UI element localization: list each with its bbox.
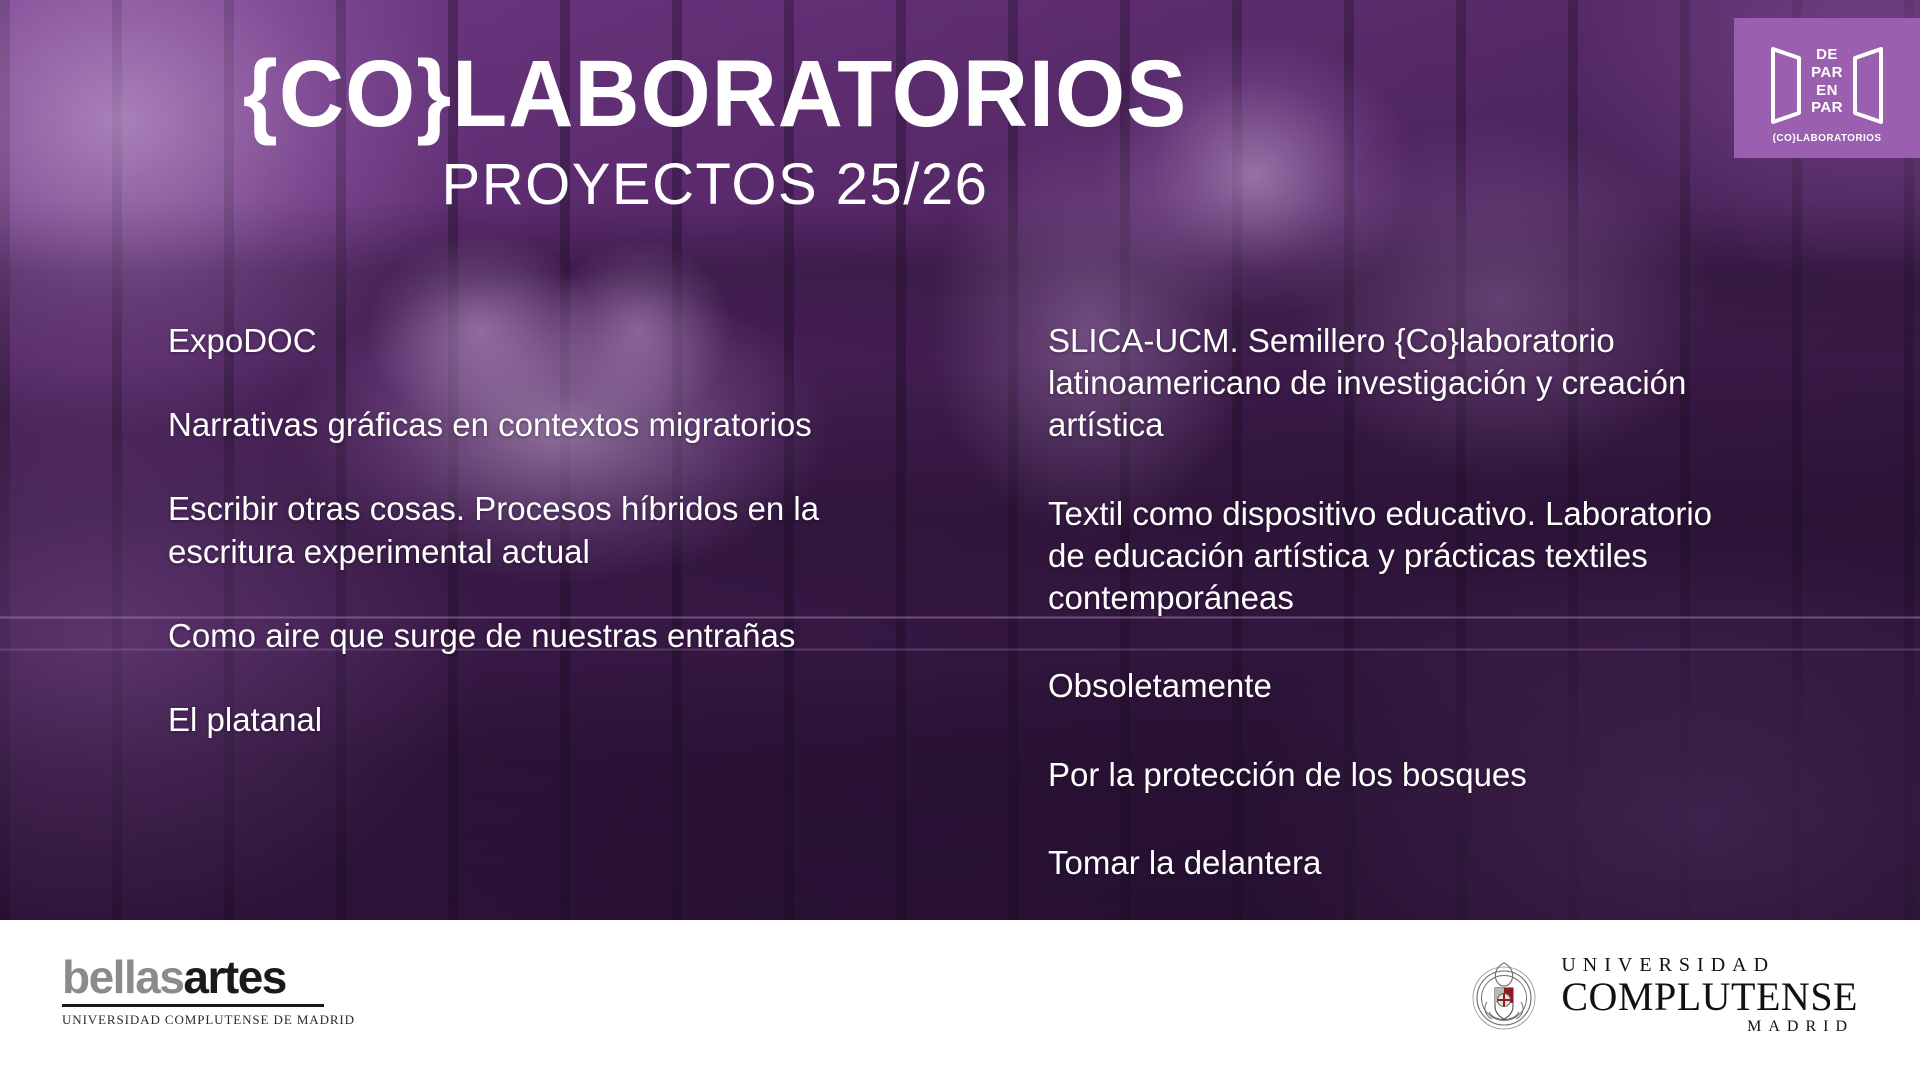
- title-block: {CO}LABORATORIOS PROYECTOS 25/26: [0, 46, 1430, 216]
- bellas-artes-wordmark: bellasartes: [62, 954, 332, 1000]
- poster-root: {CO}LABORATORIOS PROYECTOS 25/26 ExpoDOC…: [0, 0, 1920, 1080]
- project-item: Obsoletamente: [1048, 665, 1748, 707]
- project-item: ExpoDOC: [168, 320, 888, 362]
- ucm-line-madrid: MADRID: [1561, 1018, 1858, 1036]
- project-item: El platanal: [168, 699, 888, 741]
- brand-mark-de-par-en-par: DE PAR EN PAR (CO}LABORATORIOS: [1734, 18, 1920, 158]
- open-doors-icon: DE PAR EN PAR: [1769, 39, 1885, 125]
- project-item: Textil como dispositivo educativo. Labor…: [1048, 493, 1748, 620]
- ucm-crest-icon: [1465, 956, 1543, 1034]
- projects-left-column: ExpoDOC Narrativas gráficas en contextos…: [168, 320, 888, 741]
- project-item: Escribir otras cosas. Procesos híbridos …: [168, 488, 888, 572]
- brand-mark-caption: (CO}LABORATORIOS: [1773, 133, 1882, 144]
- bellas-word-bold: artes: [183, 951, 285, 1003]
- project-item: Como aire que surge de nuestras entrañas: [168, 615, 888, 657]
- brand-line-4: PAR: [1811, 99, 1843, 117]
- project-item: Tomar la delantera: [1048, 842, 1748, 884]
- bellas-artes-logo: bellasartes UNIVERSIDAD COMPLUTENSE DE M…: [62, 954, 332, 1028]
- ucm-line-complutense: COMPLUTENSE: [1561, 977, 1858, 1018]
- brand-line-2: PAR: [1811, 64, 1843, 82]
- projects-columns: ExpoDOC Narrativas gráficas en contextos…: [0, 320, 1920, 900]
- brand-line-3: EN: [1816, 82, 1838, 100]
- bellas-artes-subtitle: UNIVERSIDAD COMPLUTENSE DE MADRID: [62, 1012, 332, 1028]
- page-subtitle: PROYECTOS 25/26: [0, 155, 1430, 216]
- brand-mark-words: DE PAR EN PAR: [1769, 39, 1885, 125]
- project-item: SLICA-UCM. Semillero {Co}laboratorio lat…: [1048, 320, 1748, 447]
- ucm-wordmark: UNIVERSIDAD COMPLUTENSE MADRID: [1561, 954, 1858, 1036]
- brand-line-1: DE: [1816, 46, 1838, 64]
- hero-section: {CO}LABORATORIOS PROYECTOS 25/26 ExpoDOC…: [0, 0, 1920, 920]
- ucm-logo: UNIVERSIDAD COMPLUTENSE MADRID: [1465, 954, 1858, 1036]
- project-item: Narrativas gráficas en contextos migrato…: [168, 404, 888, 446]
- bellas-artes-divider: [62, 1004, 324, 1007]
- bellas-word-light: bellas: [62, 951, 183, 1003]
- projects-right-column: SLICA-UCM. Semillero {Co}laboratorio lat…: [1048, 320, 1748, 884]
- project-item: Por la protección de los bosques: [1048, 754, 1748, 796]
- footer-bar: bellasartes UNIVERSIDAD COMPLUTENSE DE M…: [0, 920, 1920, 1080]
- page-title: {CO}LABORATORIOS: [36, 46, 1395, 143]
